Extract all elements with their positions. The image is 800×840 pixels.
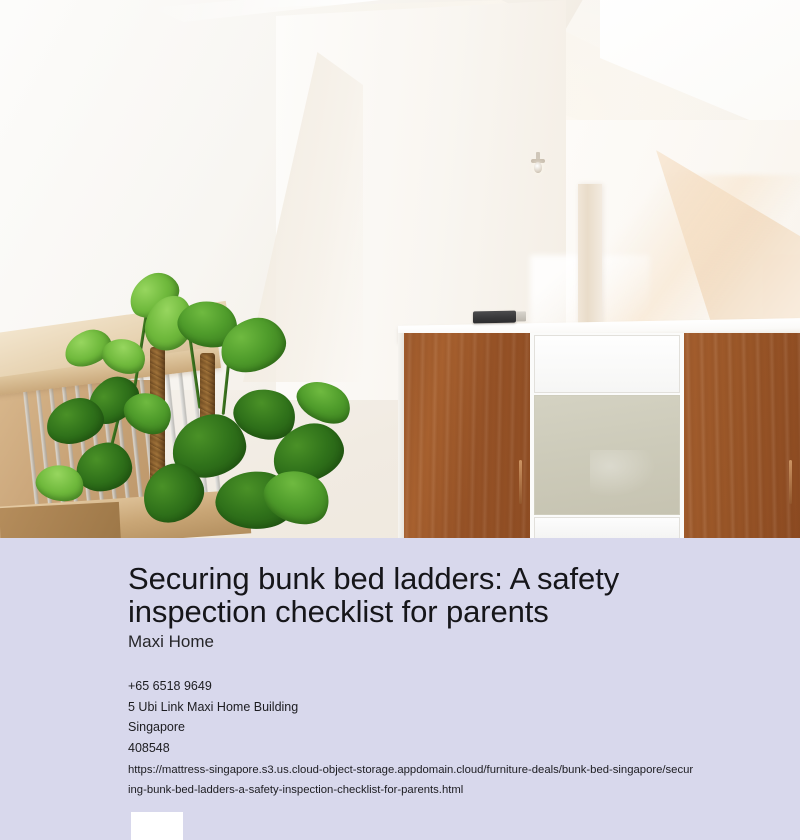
contact-address: 5 Ubi Link Maxi Home Building (128, 697, 728, 718)
contact-block: +65 6518 9649 5 Ubi Link Maxi Home Build… (128, 676, 728, 758)
hero-image (0, 0, 800, 538)
cabinet-drawer-middle (534, 395, 680, 515)
ceiling-spotlight-icon (531, 152, 545, 178)
beige-column (578, 184, 602, 326)
cabinet-run (398, 333, 800, 538)
article-url[interactable]: https://mattress-singapore.s3.us.cloud-o… (128, 760, 694, 800)
page-root: Securing bunk bed ladders: A safety insp… (0, 0, 800, 840)
cabinet-handle (519, 460, 522, 504)
plant-leaf (290, 372, 357, 433)
cabinet-drawer-top (534, 335, 680, 393)
monstera-plant (20, 275, 380, 538)
organization-name: Maxi Home (128, 632, 214, 652)
contact-phone[interactable]: +65 6518 9649 (128, 676, 728, 697)
content-panel: Securing bunk bed ladders: A safety insp… (0, 538, 800, 840)
cabinet-drawer-bottom (534, 517, 680, 538)
cabinet-handle-right (789, 460, 792, 504)
counter-device (473, 311, 516, 324)
page-title: Securing bunk bed ladders: A safety insp… (128, 562, 688, 628)
walnut-cabinet-door-left (404, 333, 530, 538)
thumbnail-card[interactable]: Furniture (131, 812, 183, 840)
spotlight-bulb (534, 162, 542, 173)
white-cabinet-center (530, 333, 684, 538)
contact-city: Singapore (128, 717, 728, 738)
walnut-cabinet-door-right (684, 333, 800, 538)
contact-postal-code: 408548 (128, 738, 728, 759)
